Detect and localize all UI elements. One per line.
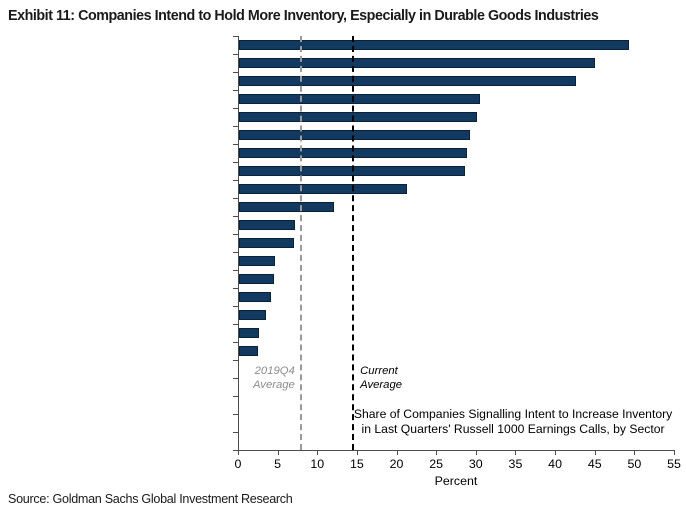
y-axis-tick xyxy=(233,90,238,91)
x-axis-tick-label: 35 xyxy=(495,457,535,471)
x-axis-tick xyxy=(357,450,358,455)
y-axis-tick xyxy=(233,324,238,325)
y-axis-tick xyxy=(233,306,238,307)
x-axis-tick-label: 40 xyxy=(535,457,575,471)
bar xyxy=(239,328,259,338)
page-title: Exhibit 11: Companies Intend to Hold Mor… xyxy=(8,8,678,24)
x-axis-tick xyxy=(436,450,437,455)
y-axis-tick xyxy=(233,342,238,343)
bar xyxy=(239,184,407,194)
reference-label-line-2: Average xyxy=(360,379,430,393)
bar xyxy=(239,58,595,68)
annotation-line-1: Share of Companies Signalling Intent to … xyxy=(352,407,674,422)
x-axis-tick xyxy=(278,450,279,455)
bar xyxy=(239,310,266,320)
y-axis-tick xyxy=(233,144,238,145)
y-axis-tick xyxy=(233,180,238,181)
y-axis-tick xyxy=(233,54,238,55)
reference-label-line-2: Average xyxy=(238,379,295,393)
x-axis-tick-label: 5 xyxy=(258,457,298,471)
y-axis-tick xyxy=(233,396,238,397)
x-axis-tick xyxy=(476,450,477,455)
y-axis-tick xyxy=(233,234,238,235)
y-axis-tick xyxy=(233,126,238,127)
source-note: Source: Goldman Sachs Global Investment … xyxy=(8,492,293,506)
bar xyxy=(239,130,470,140)
chart-annotation: Share of Companies Signalling Intent to … xyxy=(352,407,674,437)
bar xyxy=(239,94,480,104)
bar xyxy=(239,202,334,212)
x-axis-tick xyxy=(555,450,556,455)
reference-label-line-1: Current xyxy=(360,365,430,379)
x-axis-tick xyxy=(634,450,635,455)
bar xyxy=(239,112,477,122)
x-axis-tick-label: 0 xyxy=(218,457,258,471)
reference-label-current: CurrentAverage xyxy=(360,365,430,392)
y-axis-tick xyxy=(233,414,238,415)
y-axis-tick xyxy=(233,216,238,217)
y-axis-tick xyxy=(233,108,238,109)
x-axis-tick-label: 45 xyxy=(575,457,615,471)
x-axis-tick xyxy=(397,450,398,455)
reference-line-2019q4 xyxy=(300,36,302,450)
y-axis-tick xyxy=(233,270,238,271)
y-axis-tick xyxy=(233,252,238,253)
x-axis-tick xyxy=(515,450,516,455)
chart-plot-area: 0510152025303540455055 Consumer Durables… xyxy=(238,36,674,450)
y-axis-tick xyxy=(233,162,238,163)
bar xyxy=(239,40,629,50)
x-axis-tick xyxy=(238,450,239,455)
y-axis-tick xyxy=(233,36,238,37)
x-axis-tick xyxy=(317,450,318,455)
x-axis-tick xyxy=(595,450,596,455)
bar xyxy=(239,274,274,284)
bar xyxy=(239,292,271,302)
y-axis-tick xyxy=(233,198,238,199)
y-axis-tick xyxy=(233,432,238,433)
y-axis-tick xyxy=(233,288,238,289)
reference-line-current xyxy=(352,36,354,450)
reference-label-line-1: 2019Q4 xyxy=(238,365,295,379)
bar xyxy=(239,238,294,248)
bar xyxy=(239,220,295,230)
reference-label-2019q4: 2019Q4Average xyxy=(238,365,295,392)
y-axis-tick xyxy=(233,72,238,73)
x-axis-tick-label: 30 xyxy=(456,457,496,471)
x-axis-tick-label: 55 xyxy=(654,457,686,471)
annotation-line-2: in Last Quarters' Russell 1000 Earnings … xyxy=(352,422,674,437)
bar xyxy=(239,256,275,266)
x-axis-line xyxy=(238,450,674,451)
x-axis-tick-label: 15 xyxy=(337,457,377,471)
y-axis-tick xyxy=(233,360,238,361)
x-axis-tick xyxy=(674,450,675,455)
x-axis-tick-label: 25 xyxy=(416,457,456,471)
x-axis-tick-label: 10 xyxy=(297,457,337,471)
x-axis-tick-label: 20 xyxy=(377,457,417,471)
x-axis-title: Percent xyxy=(238,474,674,488)
bar xyxy=(239,76,576,86)
bar xyxy=(239,346,258,356)
x-axis-tick-label: 50 xyxy=(614,457,654,471)
